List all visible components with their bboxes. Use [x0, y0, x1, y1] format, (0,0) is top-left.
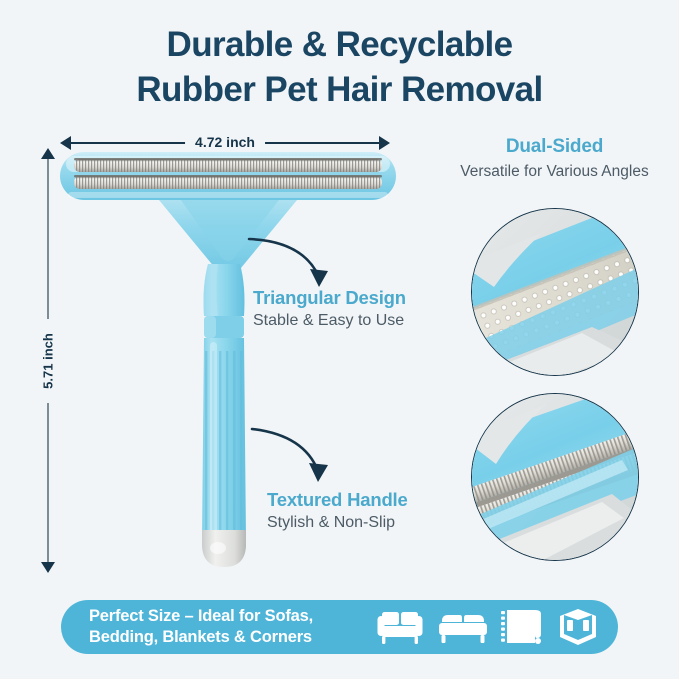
height-dimension-label: 5.71 inch — [37, 319, 60, 403]
detail-photo-comb-teeth — [471, 393, 639, 561]
sofa-icon — [377, 608, 425, 646]
arrow-head-up-icon — [41, 148, 55, 159]
page-title-line-2: Rubber Pet Hair Removal — [0, 67, 679, 112]
bed-icon — [438, 608, 488, 646]
product-panel: 4.72 inch 5.71 inch — [0, 120, 450, 585]
detail-panel-header: Dual-Sided Versatile for Various Angles — [430, 134, 679, 183]
detail-panel-title: Dual-Sided — [430, 134, 679, 160]
page-title: Durable & Recyclable Rubber Pet Hair Rem… — [0, 22, 679, 112]
detail-panel: Dual-Sided Versatile for Various Angles — [430, 134, 679, 579]
bottom-banner-text: Perfect Size – Ideal for Sofas, Bedding,… — [89, 606, 313, 648]
detail-photo-dotted-texture — [471, 208, 639, 376]
height-dimension: 5.71 inch — [36, 148, 60, 573]
bottom-banner-icons — [377, 608, 604, 646]
comb-teeth-closeup-icon — [472, 394, 639, 561]
dotted-texture-closeup-icon — [472, 209, 639, 376]
page-title-line-1: Durable & Recyclable — [0, 22, 679, 67]
arrow-head-down-icon — [41, 562, 55, 573]
callout-arrow-textured-icon — [248, 425, 343, 491]
detail-panel-subtitle: Versatile for Various Angles — [430, 160, 679, 183]
bottom-banner: Perfect Size – Ideal for Sofas, Bedding,… — [61, 600, 618, 654]
corner-icon — [558, 608, 598, 646]
rug-icon — [501, 608, 545, 646]
